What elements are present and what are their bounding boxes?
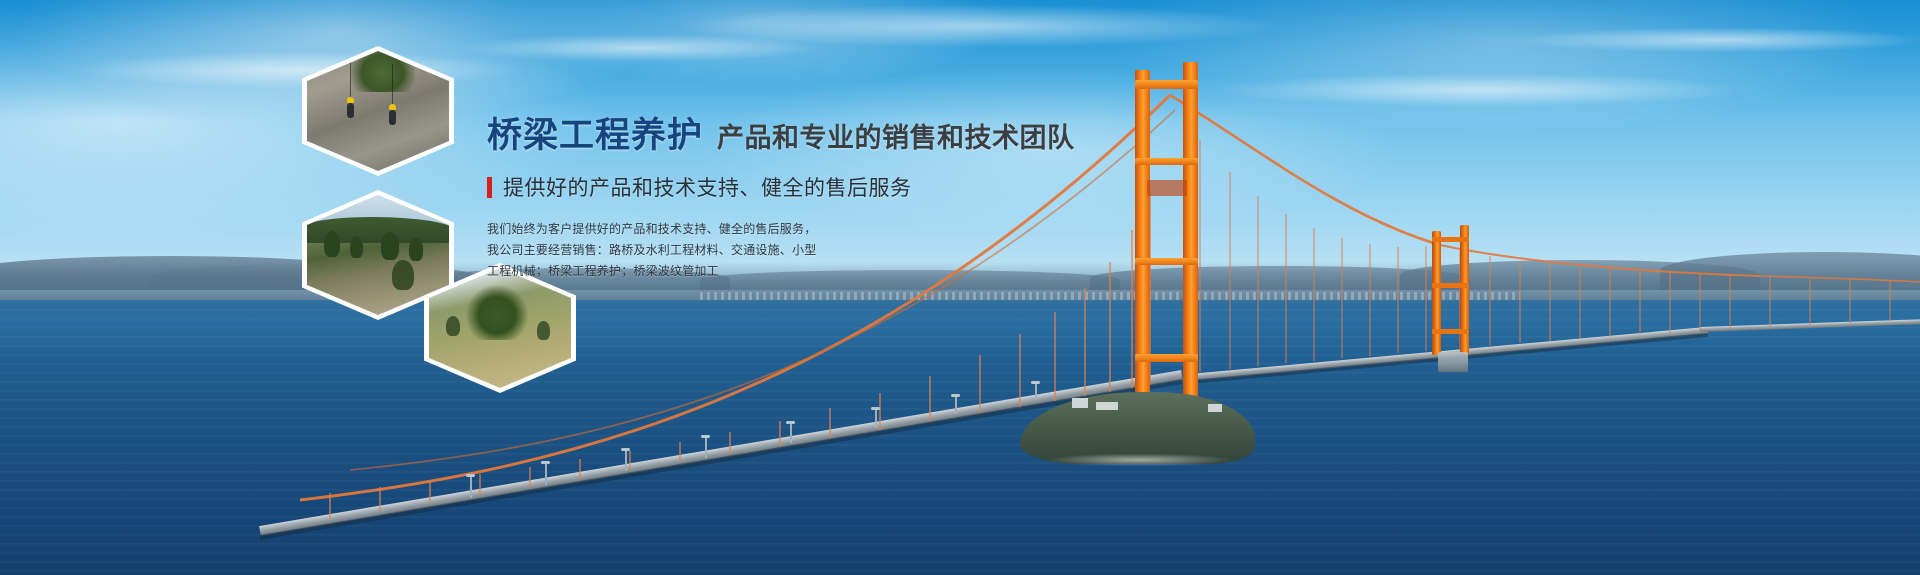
accent-bar	[487, 177, 492, 198]
bridge-secondary-tower	[1432, 225, 1474, 355]
subheadline-row: 提供好的产品和技术支持、健全的售后服务	[487, 172, 1007, 202]
hero-banner: 桥梁工程养护 产品和专业的销售和技术团队 提供好的产品和技术支持、健全的售后服务…	[0, 0, 1920, 575]
banner-description: 我们始终为客户提供好的产品和技术支持、健全的售后服务，我公司主要经营销售：路桥及…	[487, 219, 817, 282]
banner-text-block: 桥梁工程养护 产品和专业的销售和技术团队 提供好的产品和技术支持、健全的售后服务…	[487, 118, 1007, 294]
hex-photo-1[interactable]	[302, 46, 454, 176]
headline-secondary: 产品和专业的销售和技术团队	[717, 125, 1075, 152]
headline-primary: 桥梁工程养护	[487, 118, 703, 153]
subheadline-text: 提供好的产品和技术支持、健全的售后服务	[503, 172, 912, 202]
island-shore-foam	[1010, 452, 1268, 468]
island-building-1	[1072, 398, 1088, 408]
rock-slope-mesh-installation-photo	[307, 51, 449, 171]
island-building-2	[1096, 402, 1118, 410]
bridge-pier-secondary	[1438, 352, 1468, 372]
headline-row: 桥梁工程养护 产品和专业的销售和技术团队	[487, 118, 1007, 153]
bridge-main-tower	[1135, 62, 1205, 402]
island-building-3	[1208, 404, 1222, 412]
